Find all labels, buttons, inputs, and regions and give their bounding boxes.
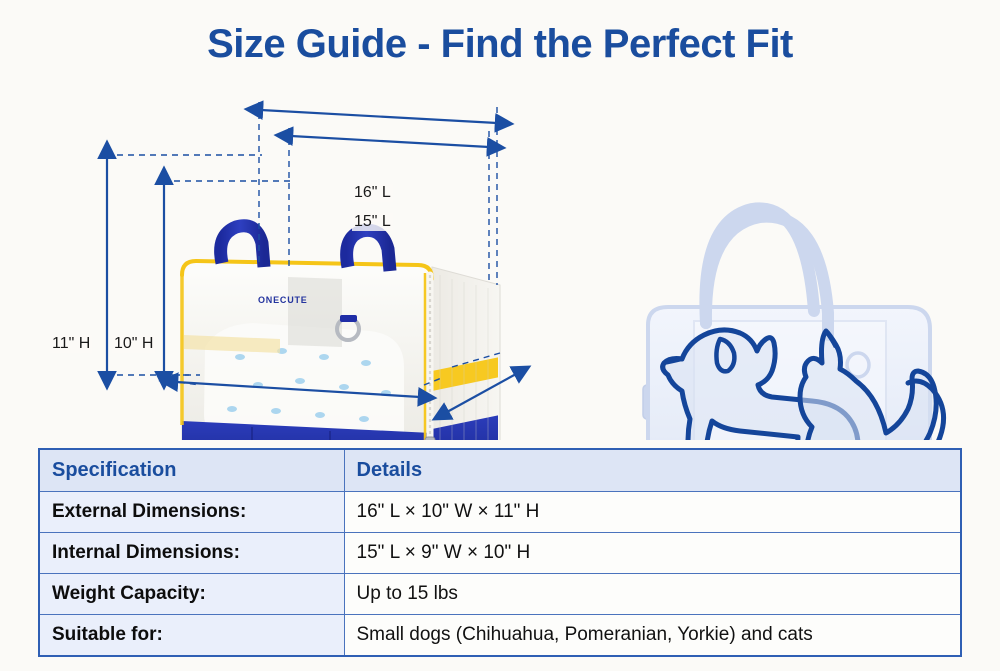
- size-diagram: ONECUTE: [0, 85, 1000, 440]
- spec-label-external-dimensions: External Dimensions:: [39, 492, 344, 533]
- column-header-details: Details: [344, 449, 961, 492]
- page-title: Size Guide - Find the Perfect Fit: [0, 22, 1000, 67]
- spec-value-suitable-for: Small dogs (Chihuahua, Pomeranian, Yorki…: [344, 615, 961, 657]
- spec-label-weight-capacity: Weight Capacity:: [39, 574, 344, 615]
- spec-value-weight-capacity: Up to 15 lbs: [344, 574, 961, 615]
- table-row: Weight Capacity: Up to 15 lbs: [39, 574, 961, 615]
- spec-label-internal-dimensions: Internal Dimensions:: [39, 533, 344, 574]
- table-row: Suitable for: Small dogs (Chihuahua, Pom…: [39, 615, 961, 657]
- spec-label-suitable-for: Suitable for:: [39, 615, 344, 657]
- table-row: External Dimensions: 16" L × 10" W × 11"…: [39, 492, 961, 533]
- specification-table: Specification Details External Dimension…: [38, 448, 962, 657]
- spec-value-external-dimensions: 16" L × 10" W × 11" H: [344, 492, 961, 533]
- spec-value-internal-dimensions: 15" L × 9" W × 10" H: [344, 533, 961, 574]
- pet-capacity-illustration: [0, 85, 1000, 440]
- column-header-specification: Specification: [39, 449, 344, 492]
- table-row: Internal Dimensions: 15" L × 9" W × 10" …: [39, 533, 961, 574]
- table-header-row: Specification Details: [39, 449, 961, 492]
